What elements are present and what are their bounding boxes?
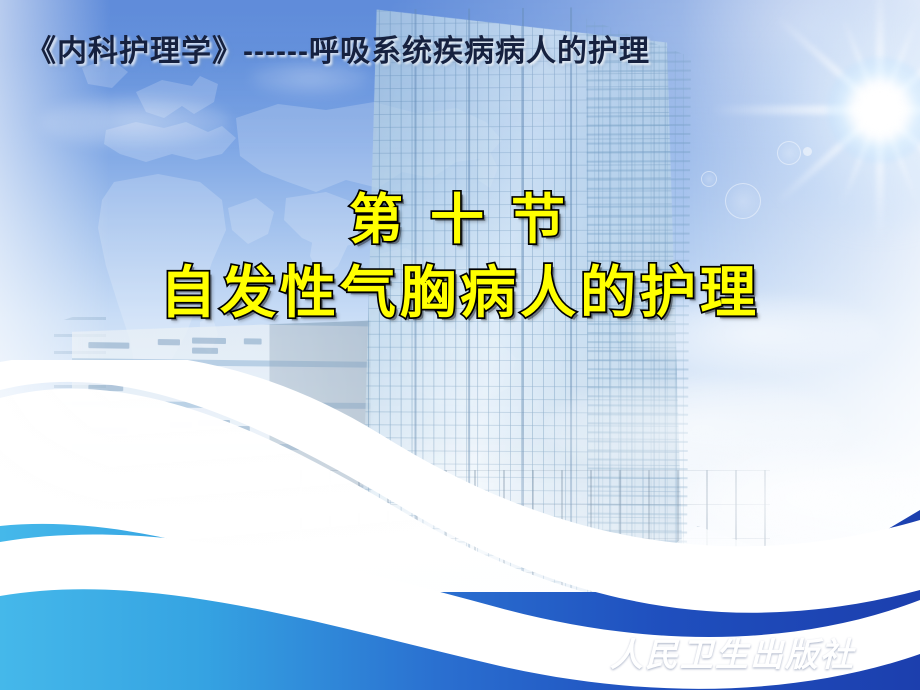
presentation-slide: 《内科护理学》------呼吸系统疾病病人的护理 第 十 节 自发性气胸病人的护…: [0, 0, 920, 690]
publisher-logo: 人民卫生出版社: [558, 628, 855, 676]
publisher-name: 人民卫生出版社: [610, 628, 855, 676]
slide-header-title: 《内科护理学》------呼吸系统疾病病人的护理: [26, 26, 650, 70]
cloud-decoration: [630, 296, 880, 370]
publisher-emblem-icon: [558, 631, 600, 673]
